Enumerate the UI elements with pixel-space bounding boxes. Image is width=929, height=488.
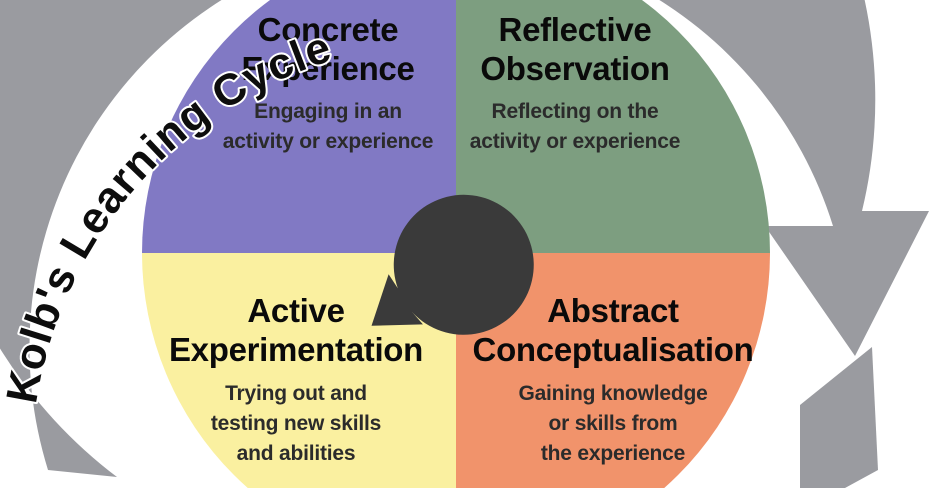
concrete-experience-subtitle-line2: activity or experience bbox=[223, 130, 433, 153]
reflective-observation-title-line2: Observation bbox=[480, 50, 669, 87]
concrete-experience-subtitle-line1: Engaging in an bbox=[254, 100, 402, 123]
reflective-observation-title-line1: Reflective bbox=[499, 11, 652, 48]
active-experimentation-subtitle-line2: testing new skills bbox=[211, 412, 381, 435]
abstract-conceptualisation-title-line1: Abstract bbox=[547, 292, 679, 329]
active-experimentation-subtitle-line1: Trying out and bbox=[225, 382, 367, 405]
quadrant-label-reflective-observation: Reflective Observation Reflecting on the… bbox=[470, 11, 680, 153]
outer-arrow-tail bbox=[800, 347, 878, 488]
active-experimentation-title-line2: Experimentation bbox=[169, 331, 423, 368]
diagram-canvas: Concrete Experience Engaging in an activ… bbox=[0, 0, 929, 488]
abstract-conceptualisation-subtitle-line2: or skills from bbox=[548, 412, 677, 435]
abstract-conceptualisation-title-line2: Conceptualisation bbox=[473, 331, 754, 368]
abstract-conceptualisation-subtitle-line1: Gaining knowledge bbox=[518, 382, 707, 405]
kolb-cycle-diagram: Concrete Experience Engaging in an activ… bbox=[0, 0, 929, 488]
active-experimentation-subtitle-line3: and abilities bbox=[237, 442, 356, 465]
reflective-observation-subtitle-line1: Reflecting on the bbox=[492, 100, 659, 123]
abstract-conceptualisation-subtitle-line3: the experience bbox=[541, 442, 685, 465]
active-experimentation-title-line1: Active bbox=[247, 292, 344, 329]
reflective-observation-subtitle-line2: activity or experience bbox=[470, 130, 680, 153]
